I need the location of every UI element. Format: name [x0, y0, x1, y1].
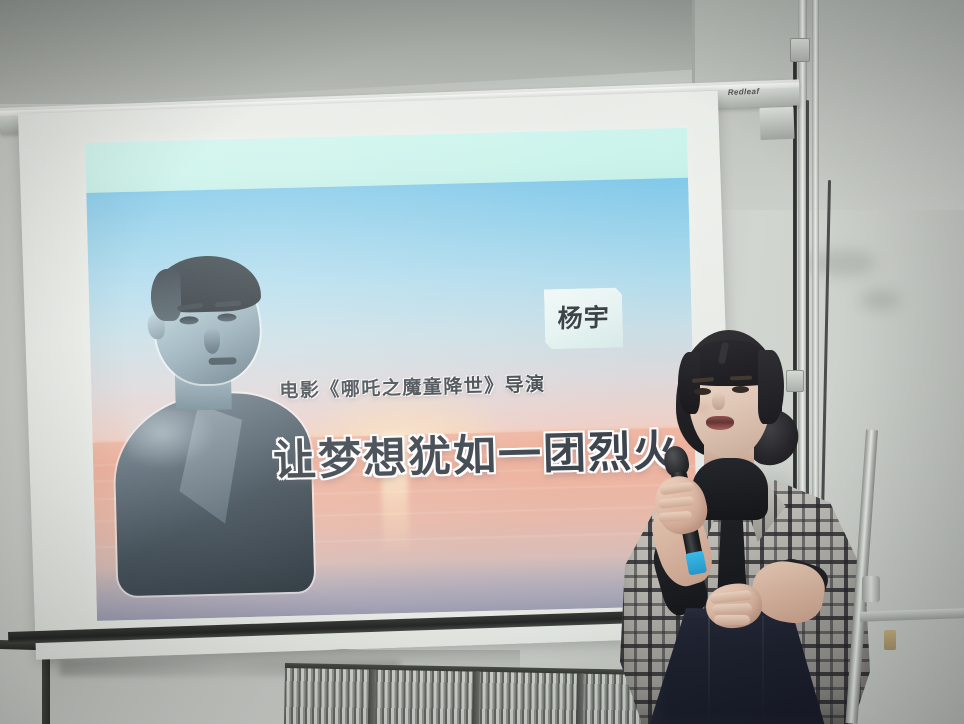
pipe-tag [884, 630, 896, 650]
slide-name-card-text: 杨宇 [557, 305, 610, 331]
wall-grille [284, 668, 665, 724]
finger [714, 615, 750, 625]
portrait-shoulder-highlight [126, 408, 217, 470]
speaker-person [612, 326, 882, 724]
eye-left [694, 388, 711, 395]
grille-divider [368, 670, 376, 724]
pipe-joint [862, 576, 880, 602]
skirt-fold [762, 616, 764, 724]
microphone-band [685, 551, 707, 576]
mouth [706, 416, 734, 430]
housing-end-cap [759, 107, 794, 140]
junction-box [790, 38, 810, 62]
portrait-mouth [208, 357, 236, 365]
photo-scene: Redleaf [0, 0, 964, 724]
wall-smudge [860, 290, 900, 310]
grille-divider [472, 672, 480, 724]
eyebrow-right [730, 376, 752, 381]
hair-side-right [758, 350, 784, 424]
portrait-hair-side [150, 269, 181, 322]
eye-right [732, 386, 749, 393]
finger [712, 603, 752, 615]
hair-side-left [678, 352, 700, 414]
nose [712, 392, 725, 410]
projector-brand-label: Redleaf [728, 87, 760, 97]
skirt-fold [708, 616, 710, 724]
projected-slide: 杨宇 电影《哪吒之魔童降世》导演 让梦想犹如一团烈火 [85, 128, 699, 621]
grille-divider [576, 674, 584, 724]
